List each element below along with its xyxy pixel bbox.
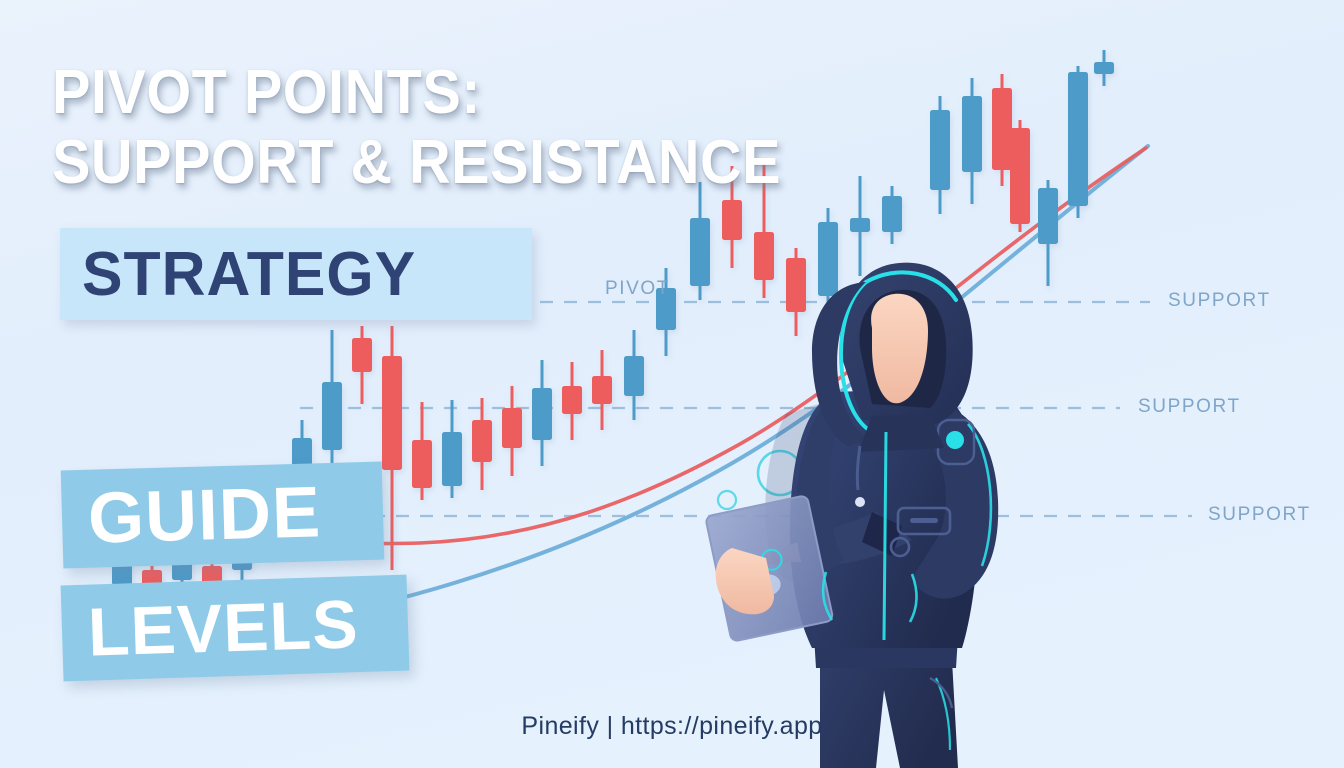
infographic-canvas: PIVOT POINTS: SUPPORT & RESISTANCE STRAT… <box>0 0 1344 768</box>
deco-circle-small <box>718 491 736 509</box>
badge-guide-label: GUIDE <box>87 471 322 559</box>
badge-levels: LEVELS <box>61 575 410 682</box>
badge-strategy-label: STRATEGY <box>82 239 416 310</box>
shoulder-badge <box>946 431 964 449</box>
badge-strategy: STRATEGY <box>60 228 532 320</box>
footer: Pineify | https://pineify.app <box>0 712 1344 741</box>
badge-guide: GUIDE <box>61 462 385 569</box>
chest-badge-bar <box>910 518 938 523</box>
badge-levels-label: LEVELS <box>87 585 360 671</box>
footer-text: Pineify | https://pineify.app <box>521 712 822 740</box>
drawstring-tip <box>855 497 865 507</box>
zipper <box>884 432 886 640</box>
collar <box>858 414 944 452</box>
